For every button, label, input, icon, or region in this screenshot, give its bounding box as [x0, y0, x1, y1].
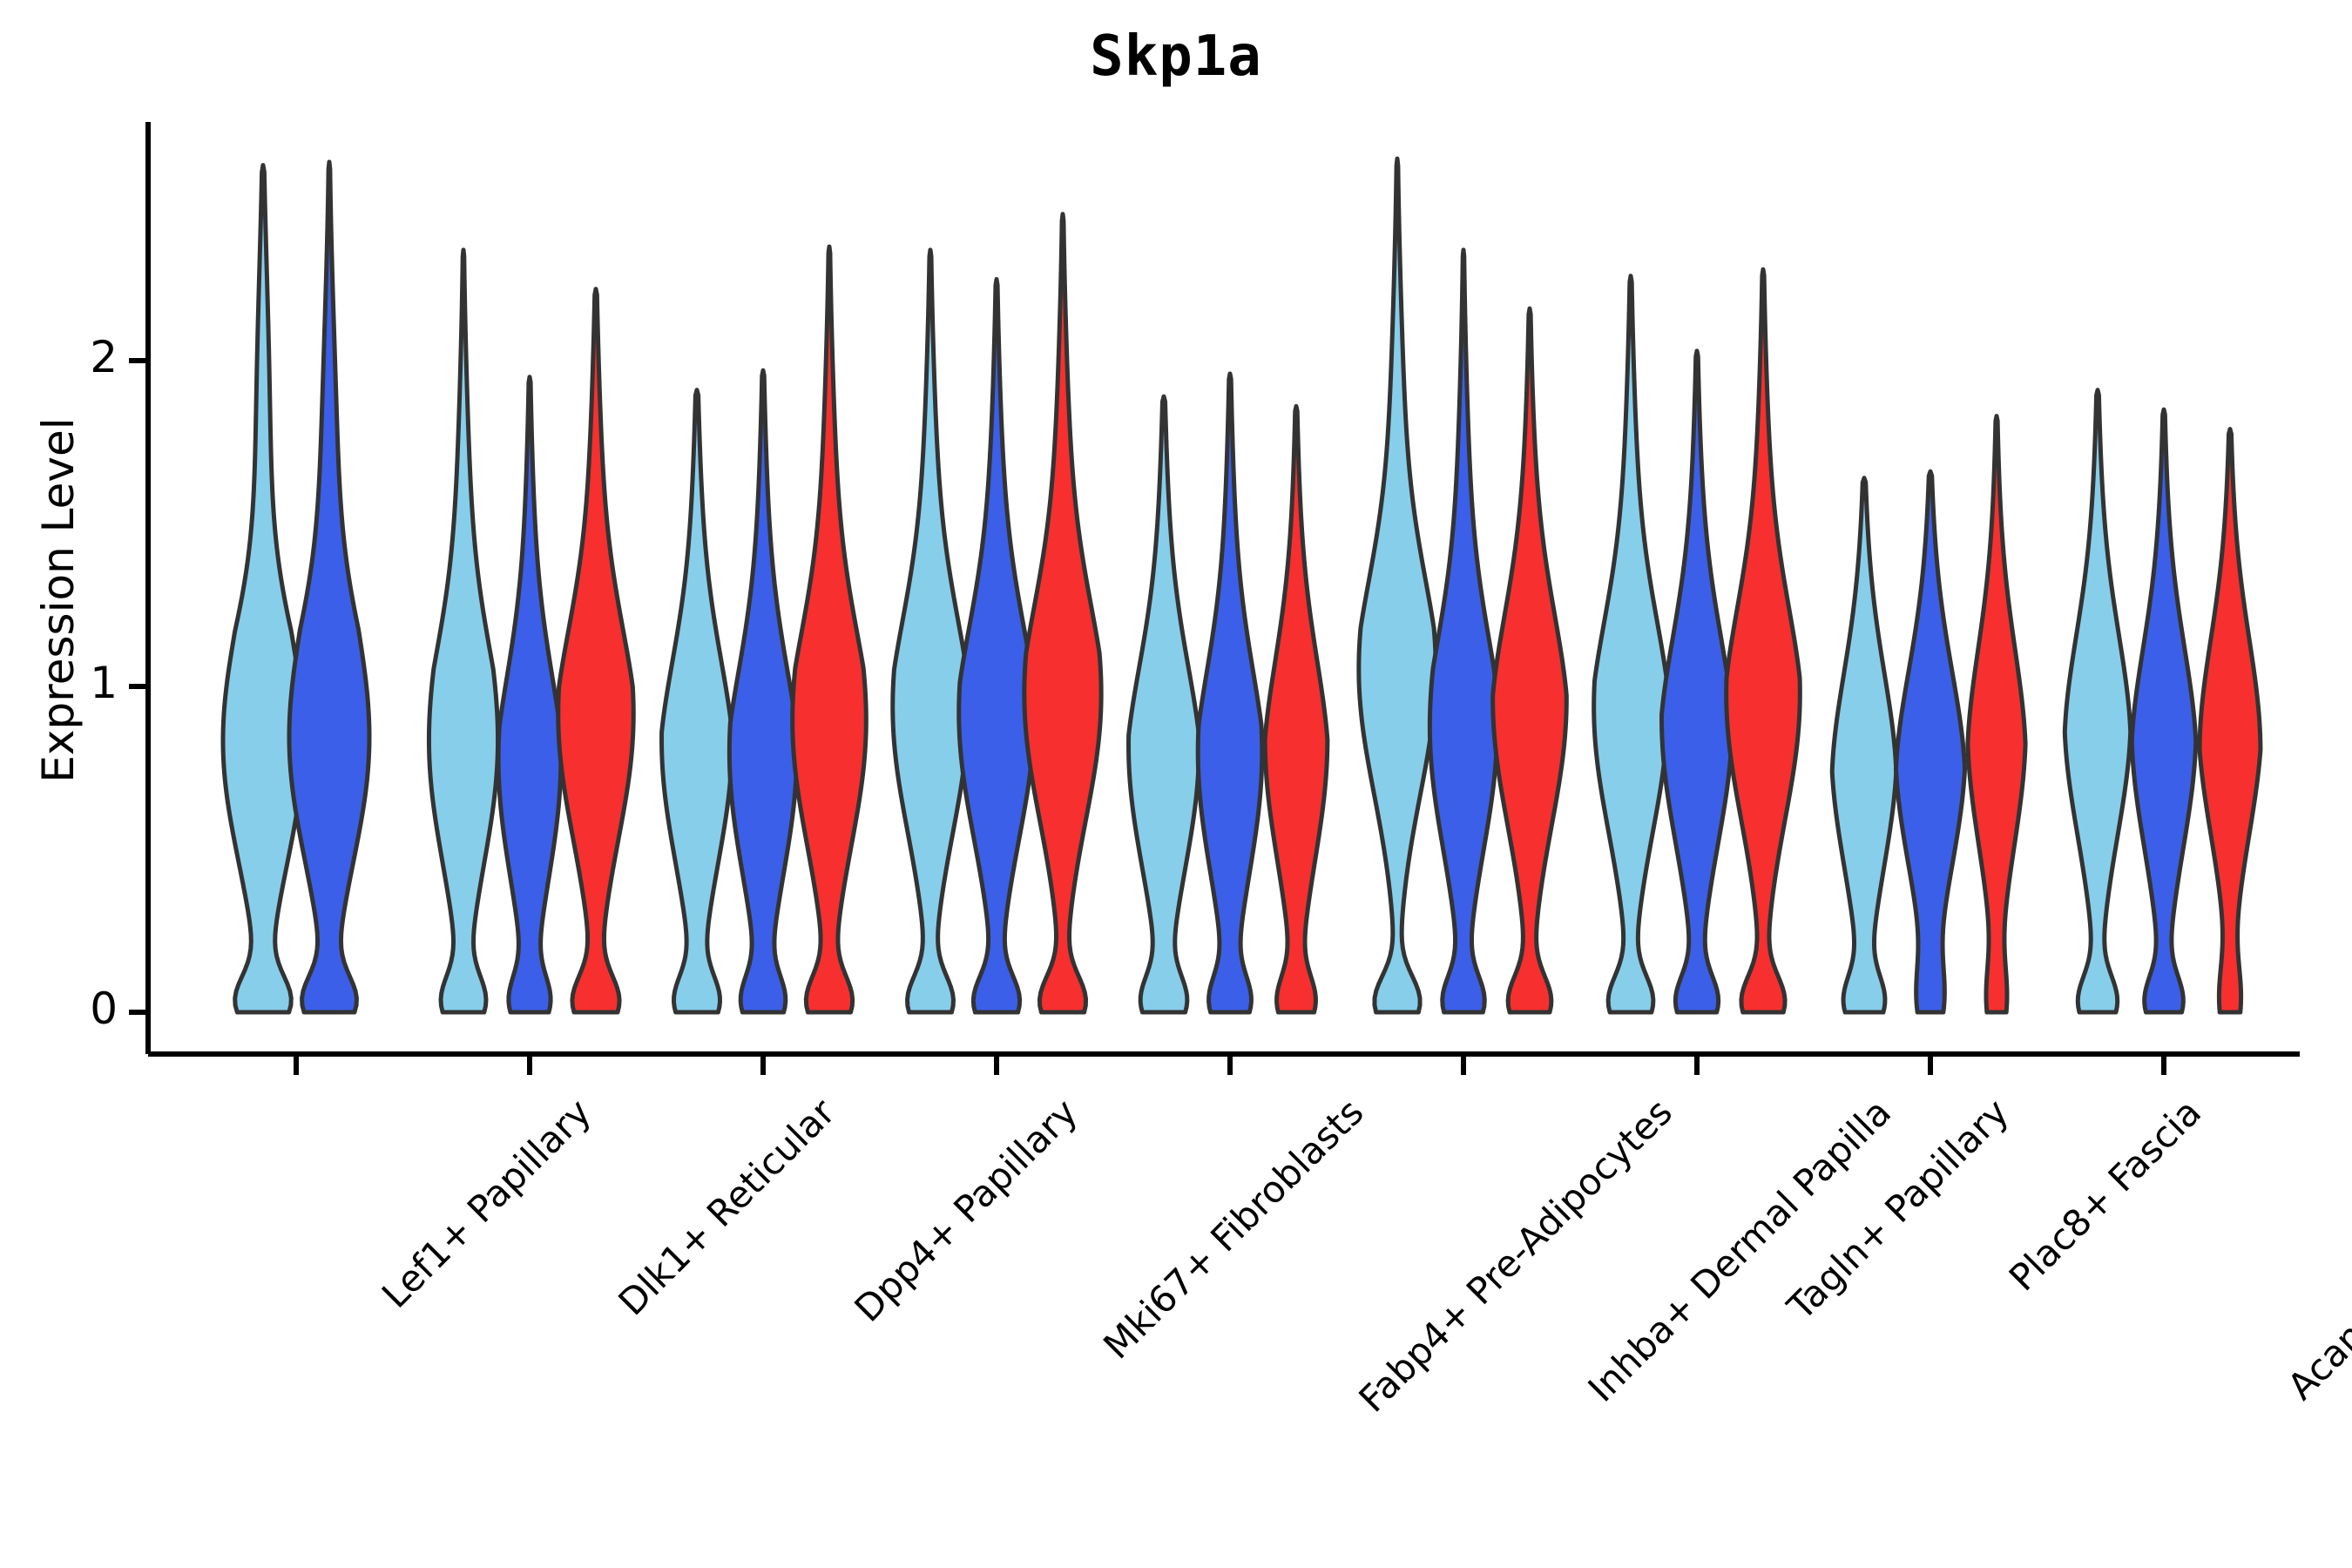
violin-shape: [959, 280, 1034, 1013]
violin-shape: [1024, 214, 1101, 1012]
violin-shape: [1968, 416, 2025, 1012]
violin-shape: [1129, 396, 1200, 1012]
y-tick-label: 2: [13, 332, 118, 382]
violin-shape: [662, 390, 733, 1012]
y-tick-label: 1: [13, 658, 118, 708]
violin-shape: [223, 166, 303, 1012]
violin-shape: [498, 377, 561, 1012]
violin-shape: [729, 370, 796, 1012]
violin-shape: [1198, 374, 1262, 1012]
violin-shape: [289, 162, 369, 1012]
violin-shape: [429, 250, 497, 1012]
violin-shape: [1594, 276, 1668, 1012]
violin-plot-figure: Skp1a Expression Level 012 Lef1+ Papilla…: [0, 0, 2352, 1568]
violin-shape: [558, 289, 633, 1012]
violin-shape: [1429, 250, 1497, 1012]
violin-shape: [893, 250, 968, 1012]
violin-shape: [2065, 390, 2130, 1012]
y-tick-label: 0: [13, 983, 118, 1034]
violin-chart-canvas: [0, 0, 2352, 1568]
violin-shape: [793, 247, 867, 1012]
violin-shape: [1359, 159, 1436, 1012]
violin-shape: [1493, 308, 1567, 1012]
violin-shape: [2200, 429, 2261, 1012]
violin-shape: [1832, 478, 1896, 1012]
violin-shape: [1662, 351, 1733, 1012]
violin-shape: [1896, 471, 1964, 1012]
violin-group-layer: [223, 159, 2261, 1012]
violin-shape: [1265, 406, 1328, 1012]
violin-shape: [1727, 269, 1801, 1012]
violin-shape: [2132, 409, 2196, 1012]
